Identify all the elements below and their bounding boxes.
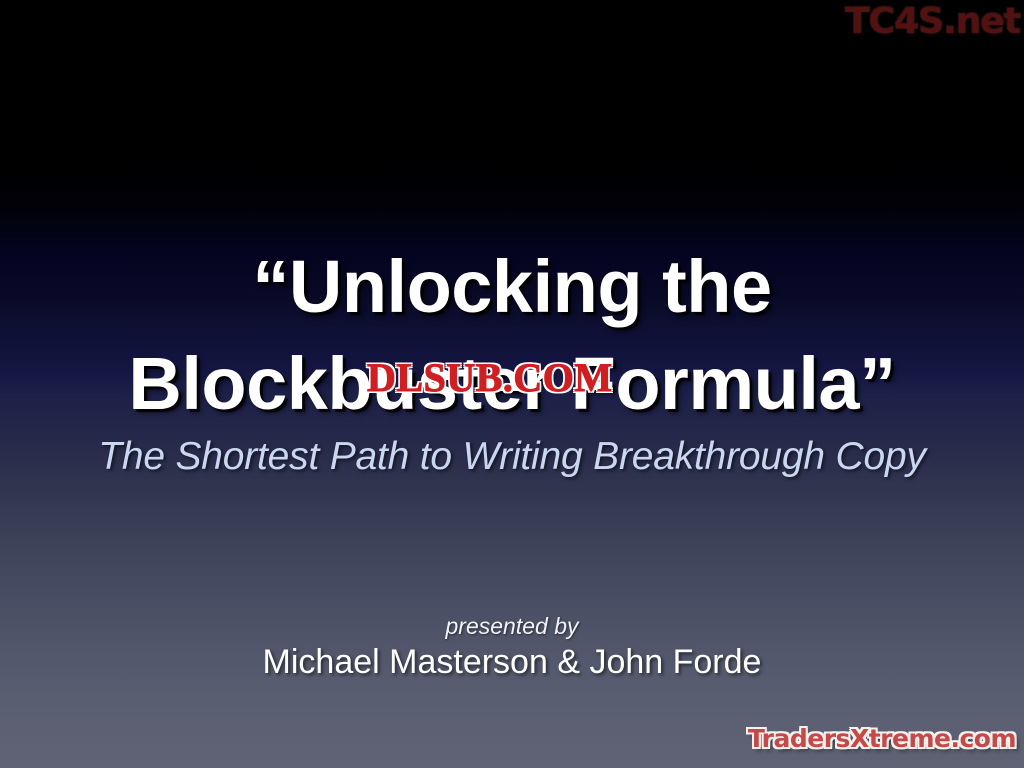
slide-subtitle: The Shortest Path to Writing Breakthroug… (0, 433, 1024, 481)
dlsub-watermark: DLSUB.COM (367, 356, 613, 400)
slide-title-line-1: “Unlocking the (0, 238, 1024, 335)
presenter-names: Michael Masterson & John Forde (0, 641, 1024, 683)
tradersxtreme-watermark: TradersXtreme.com (748, 724, 1016, 754)
presented-by-label: presented by (0, 612, 1024, 641)
presentation-slide: TC4S.net “Unlocking the Blockbuster Form… (0, 0, 1024, 768)
slide-title: “Unlocking the Blockbuster Formula” (0, 238, 1024, 432)
tc4s-watermark: TC4S.net (845, 1, 1020, 43)
